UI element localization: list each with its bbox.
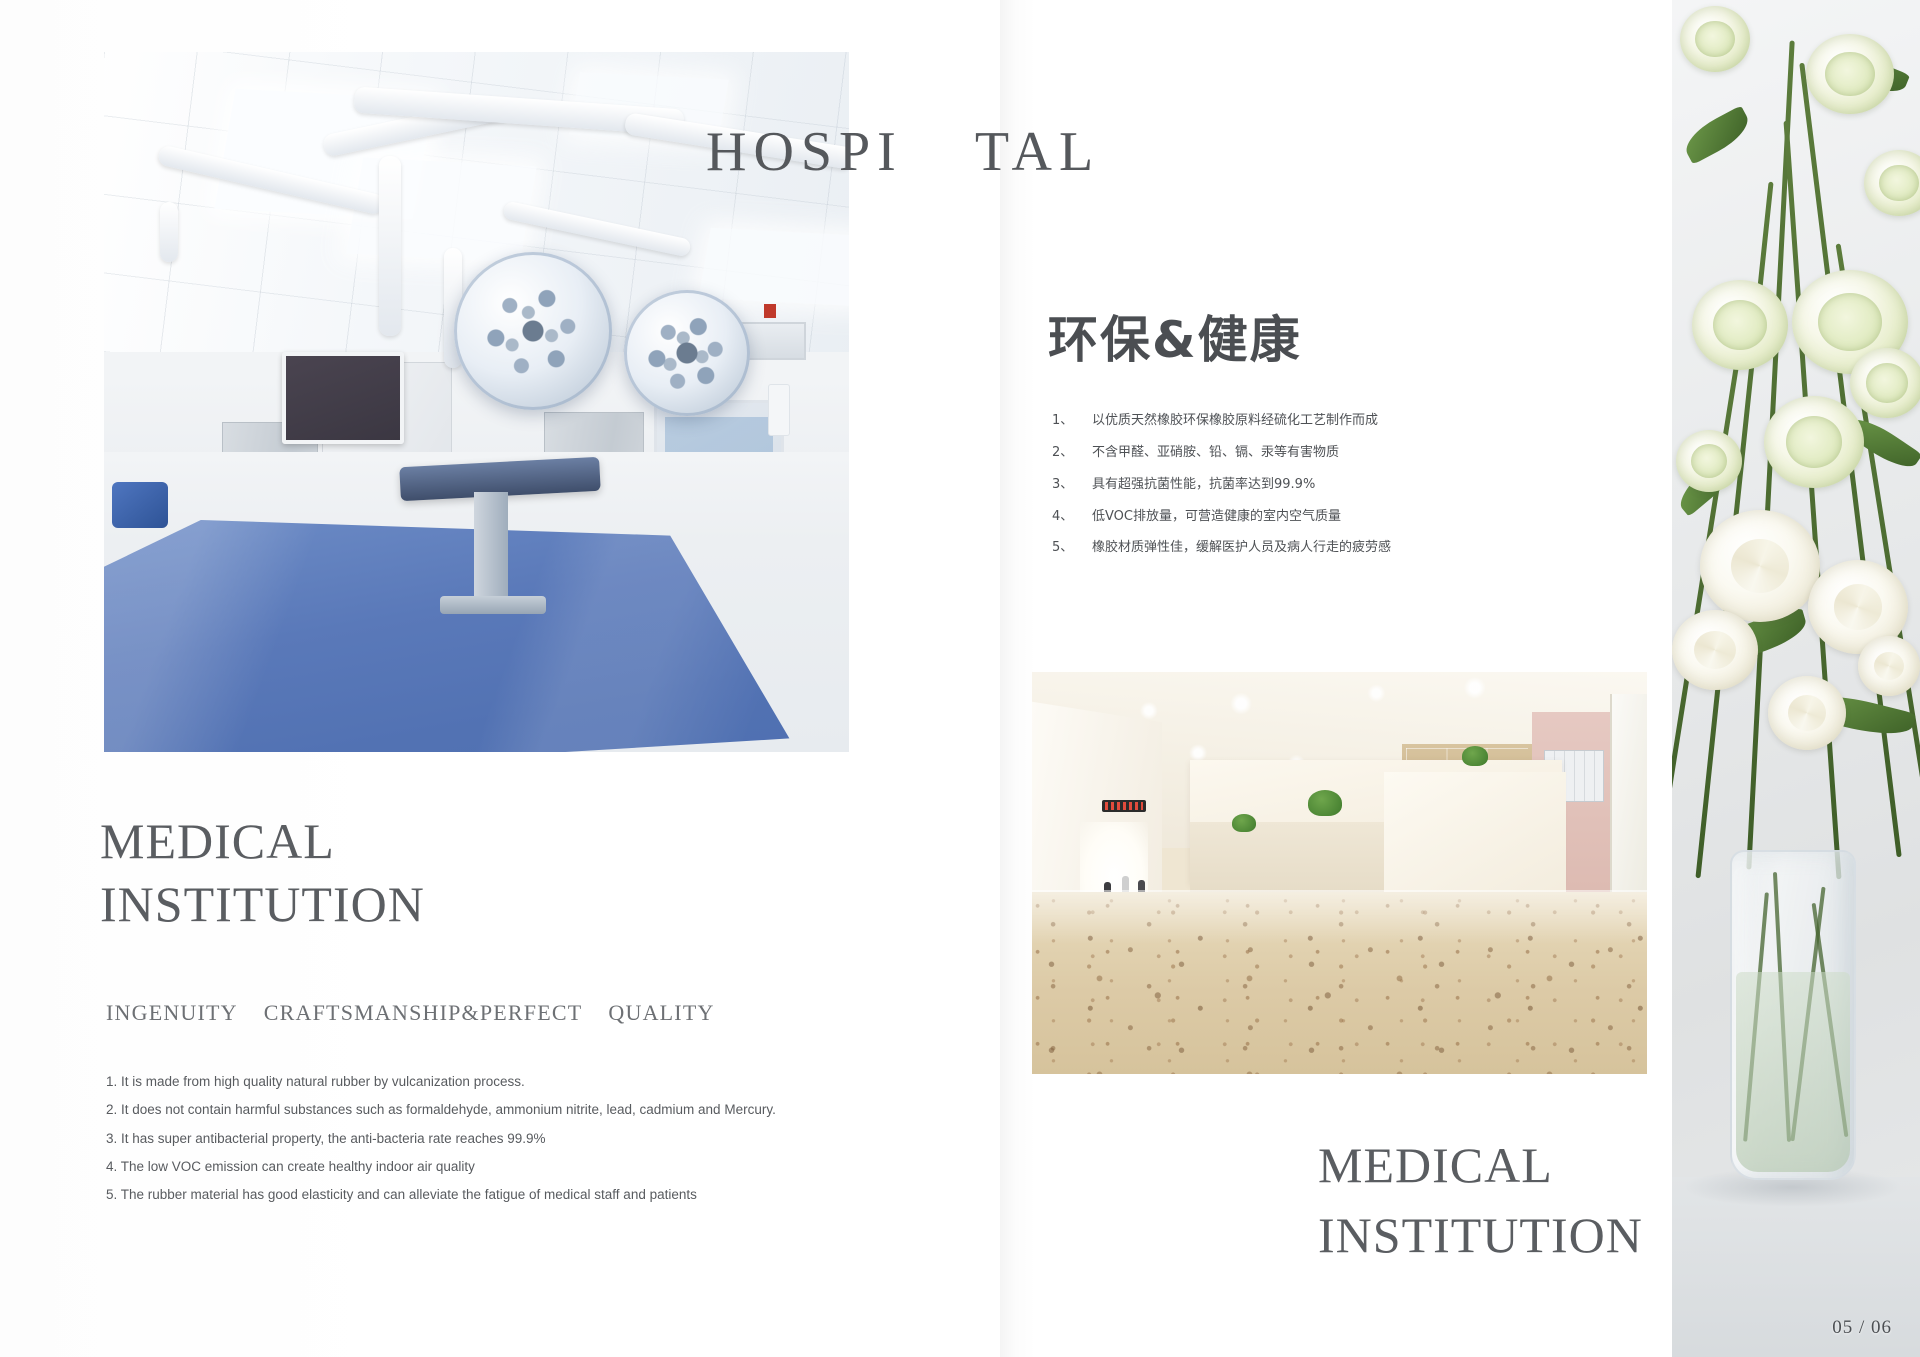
operating-table-base bbox=[440, 596, 546, 614]
rose-bloom bbox=[1768, 676, 1846, 750]
rose-bloom bbox=[1700, 510, 1820, 622]
floor-reflection-glow bbox=[1032, 890, 1647, 944]
surgical-display-monitor bbox=[282, 352, 404, 444]
reception-desk-front bbox=[1384, 772, 1566, 902]
potted-plant-icon bbox=[1462, 746, 1488, 766]
flower-bloom bbox=[1806, 34, 1894, 114]
list-item: 3. It has super antibacterial property, … bbox=[106, 1125, 776, 1153]
list-item: 2、不含甲醛、亚硝胺、铅、镉、汞等有害物质 bbox=[1052, 437, 1391, 469]
glass-vase bbox=[1730, 850, 1856, 1180]
operating-table-column bbox=[474, 492, 508, 602]
led-sign-board bbox=[1102, 800, 1146, 812]
surgical-light-icon bbox=[454, 252, 612, 410]
surgical-light-icon bbox=[624, 290, 750, 416]
hospital-corridor-photo bbox=[1032, 672, 1647, 1074]
emergency-button-icon bbox=[764, 304, 776, 318]
list-item-text: 以优质天然橡胶环保橡胶原料经硫化工艺制作而成 bbox=[1092, 413, 1378, 428]
flower-bloom bbox=[1764, 396, 1864, 488]
list-item: 5. The rubber material has good elastici… bbox=[106, 1181, 776, 1209]
ceiling-pendant-column bbox=[160, 202, 178, 262]
potted-plant-icon bbox=[1308, 790, 1342, 816]
flower-vase-photo bbox=[1672, 0, 1920, 1357]
flower-bloom bbox=[1676, 430, 1742, 492]
left-heading-line2: INSTITUTION bbox=[100, 873, 425, 936]
chinese-section-heading: 环保&健康 bbox=[1048, 300, 1302, 372]
left-heading-line1: MEDICAL bbox=[100, 810, 425, 873]
list-item-number: 5、 bbox=[1052, 532, 1092, 564]
english-feature-list: 1. It is made from high quality natural … bbox=[106, 1068, 776, 1210]
list-item-text: 低VOC排放量，可营造健康的室内空气质量 bbox=[1092, 509, 1341, 524]
list-item-number: 2、 bbox=[1052, 437, 1092, 469]
list-item: 2. It does not contain harmful substance… bbox=[106, 1096, 776, 1124]
tagline-word-2: CRAFTSMANSHIP&PERFECT bbox=[264, 1000, 583, 1025]
flower-bloom bbox=[1850, 348, 1920, 418]
rose-bloom bbox=[1858, 636, 1920, 696]
list-item-text: 橡胶材质弹性佳，缓解医护人员及病人行走的疲劳感 bbox=[1092, 540, 1391, 555]
chinese-feature-list: 1、以优质天然橡胶环保橡胶原料经硫化工艺制作而成 2、不含甲醛、亚硝胺、铅、镉、… bbox=[1052, 405, 1391, 564]
sanitizer-dispenser bbox=[768, 384, 790, 436]
left-section-heading: MEDICAL INSTITUTION bbox=[100, 810, 425, 935]
flower-bloom bbox=[1692, 280, 1788, 370]
ceiling-light-panel bbox=[699, 228, 849, 306]
tagline-word-3: QUALITY bbox=[608, 1000, 714, 1025]
page-number: 05 / 06 bbox=[1832, 1317, 1892, 1339]
list-item-text: 不含甲醛、亚硝胺、铅、镉、汞等有害物质 bbox=[1092, 445, 1339, 460]
right-section-heading: MEDICAL INSTITUTION bbox=[1318, 1130, 1643, 1270]
equipment-bag bbox=[112, 482, 168, 528]
flower-bloom bbox=[1680, 6, 1750, 72]
list-item: 5、橡胶材质弹性佳，缓解医护人员及病人行走的疲劳感 bbox=[1052, 532, 1391, 564]
right-heading-line1: MEDICAL bbox=[1318, 1130, 1643, 1200]
vase-water bbox=[1736, 972, 1850, 1172]
list-item: 3、具有超强抗菌性能，抗菌率达到99.9% bbox=[1052, 469, 1391, 501]
potted-plant-icon bbox=[1232, 814, 1256, 832]
page-title-part2: TAL bbox=[975, 121, 1100, 183]
brochure-page: 匠/心/工/艺 铸/造/完/美 HOS bbox=[0, 0, 1920, 1357]
list-item-number: 1、 bbox=[1052, 405, 1092, 437]
list-item: 4、低VOC排放量，可营造健康的室内空气质量 bbox=[1052, 501, 1391, 533]
list-item-text: 具有超强抗菌性能，抗菌率达到99.9% bbox=[1092, 477, 1315, 492]
list-item-number: 3、 bbox=[1052, 469, 1092, 501]
list-item: 1. It is made from high quality natural … bbox=[106, 1068, 776, 1096]
list-item-number: 4、 bbox=[1052, 501, 1092, 533]
rose-bloom bbox=[1672, 610, 1758, 690]
right-heading-line2: INSTITUTION bbox=[1318, 1200, 1643, 1270]
tagline-word-1: INGENUITY bbox=[106, 1000, 238, 1025]
list-item: 1、以优质天然橡胶环保橡胶原料经硫化工艺制作而成 bbox=[1052, 405, 1391, 437]
list-item: 4. The low VOC emission can create healt… bbox=[106, 1153, 776, 1181]
ceiling-pendant-column bbox=[379, 156, 401, 336]
page-title-part1: HOSPI bbox=[706, 121, 903, 183]
book-spine-shadow bbox=[1000, 0, 1036, 1357]
page-title: HOSPITAL bbox=[706, 120, 1100, 184]
left-tagline: INGENUITYCRAFTSMANSHIP&PERFECTQUALITY bbox=[106, 1000, 715, 1026]
